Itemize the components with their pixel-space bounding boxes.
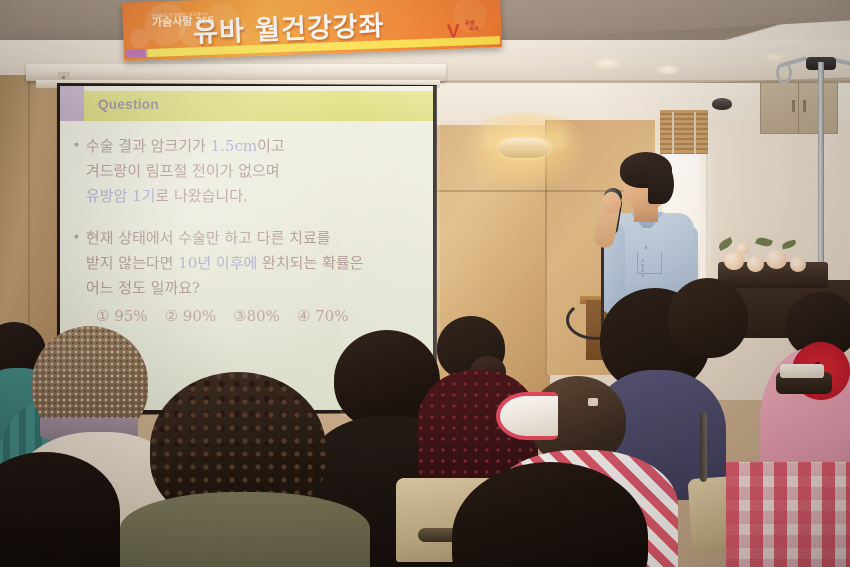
cabinet-divider xyxy=(798,82,799,134)
downlight-icon xyxy=(592,57,622,69)
chair-frame xyxy=(700,412,707,482)
sun-visor xyxy=(496,392,558,440)
plain-text: 이고 xyxy=(257,137,285,155)
bullet-text: 수술 결과 암크기가 1.5cm이고겨드랑이 림프절 전이가 없으며유방암 1기… xyxy=(86,134,285,209)
highlighted-term: 유방암 1기 xyxy=(86,187,156,205)
rose-icon xyxy=(747,256,764,272)
speaker-hand-holding-mic xyxy=(602,192,621,214)
slide-bullet-list: •수술 결과 암크기가 1.5cm이고겨드랑이 림프절 전이가 없으며유방암 1… xyxy=(74,134,424,301)
bullet-marker-icon: • xyxy=(74,226,79,301)
plain-text: 받지 않는다면 xyxy=(86,254,178,272)
plain-text: 림프절 전이가 없으며 xyxy=(146,162,280,180)
plain-text: 어느 정도 일까요? xyxy=(86,279,200,297)
bullet-line: 어느 정도 일까요? xyxy=(86,276,364,301)
bullet-marker-icon: • xyxy=(74,134,79,209)
wall-sconce xyxy=(498,138,550,158)
downlight-icon xyxy=(762,52,786,62)
window-blinds xyxy=(660,110,708,154)
cabinet-handle xyxy=(792,100,795,112)
projector-screen-housing xyxy=(26,64,446,81)
bullet-line: 겨드랑이 림프절 전이가 없으며 xyxy=(86,159,285,184)
plain-text: 로 나왔습니다. xyxy=(155,187,247,205)
slide-body: •수술 결과 암크기가 1.5cm이고겨드랑이 림프절 전이가 없으며유방암 1… xyxy=(74,134,424,327)
blind-cord xyxy=(672,112,674,154)
rose-icon xyxy=(766,250,787,269)
slide-bullet: •수술 결과 암크기가 1.5cm이고겨드랑이 림프절 전이가 없으며유방암 1… xyxy=(74,134,424,209)
bullet-text: 현재 상태에서 수술만 하고 다른 치료를받지 않는다면 10년 이후에 완치되… xyxy=(86,226,364,301)
wall-cabinet xyxy=(760,82,838,134)
speaker-badge-text: 유방외과 xyxy=(641,259,645,279)
olive-top xyxy=(120,492,370,567)
slide-title: Question xyxy=(98,97,159,112)
photo-scene: Question •수술 결과 암크기가 1.5cm이고겨드랑이 림프절 전이가… xyxy=(0,0,850,567)
plain-text: 겨드랑이 xyxy=(86,162,146,180)
downlight-icon xyxy=(655,64,681,75)
plain-text: 수술 결과 암크기가 xyxy=(86,137,211,155)
plain-text: 완치되는 확률은 xyxy=(257,254,363,272)
bullet-line: 수술 결과 암크기가 1.5cm이고 xyxy=(86,134,285,159)
slide-accent-bar xyxy=(60,86,84,121)
blind-cord xyxy=(694,112,696,154)
slide-bullet: •현재 상태에서 수술만 하고 다른 치료를받지 않는다면 10년 이후에 완치… xyxy=(74,226,424,301)
highlighted-term: 1.5cm xyxy=(211,137,257,155)
answer-option: ④ 70% xyxy=(297,305,349,327)
hair-clip xyxy=(588,398,598,406)
cabinet-handle xyxy=(803,100,806,112)
screen-bolt xyxy=(62,76,65,79)
bullet-line: 유방암 1기로 나왔습니다. xyxy=(86,184,285,209)
highlighted-term: 10년 이후에 xyxy=(178,254,257,272)
answer-option: ① 95% xyxy=(96,305,148,327)
rose-icon xyxy=(736,243,749,255)
bullet-line: 현재 상태에서 수술만 하고 다른 치료를 xyxy=(86,226,364,251)
bullet-line: 받지 않는다면 10년 이후에 완치되는 확률은 xyxy=(86,251,364,276)
speaker-badge-mark: ∨ xyxy=(644,245,648,251)
rose-icon xyxy=(790,257,806,272)
answer-option: ③80% xyxy=(233,305,280,327)
white-container xyxy=(780,364,824,378)
slide-answer-options: ① 95%② 90%③80%④ 70% xyxy=(74,305,424,327)
iv-hook-loop xyxy=(776,62,792,84)
dome-security-camera-icon xyxy=(712,98,732,110)
answer-option: ② 90% xyxy=(165,305,217,327)
banner-mark-line2: 외과 xyxy=(469,27,479,33)
plain-text: 현재 상태에서 수술만 하고 다른 치료를 xyxy=(86,229,331,247)
